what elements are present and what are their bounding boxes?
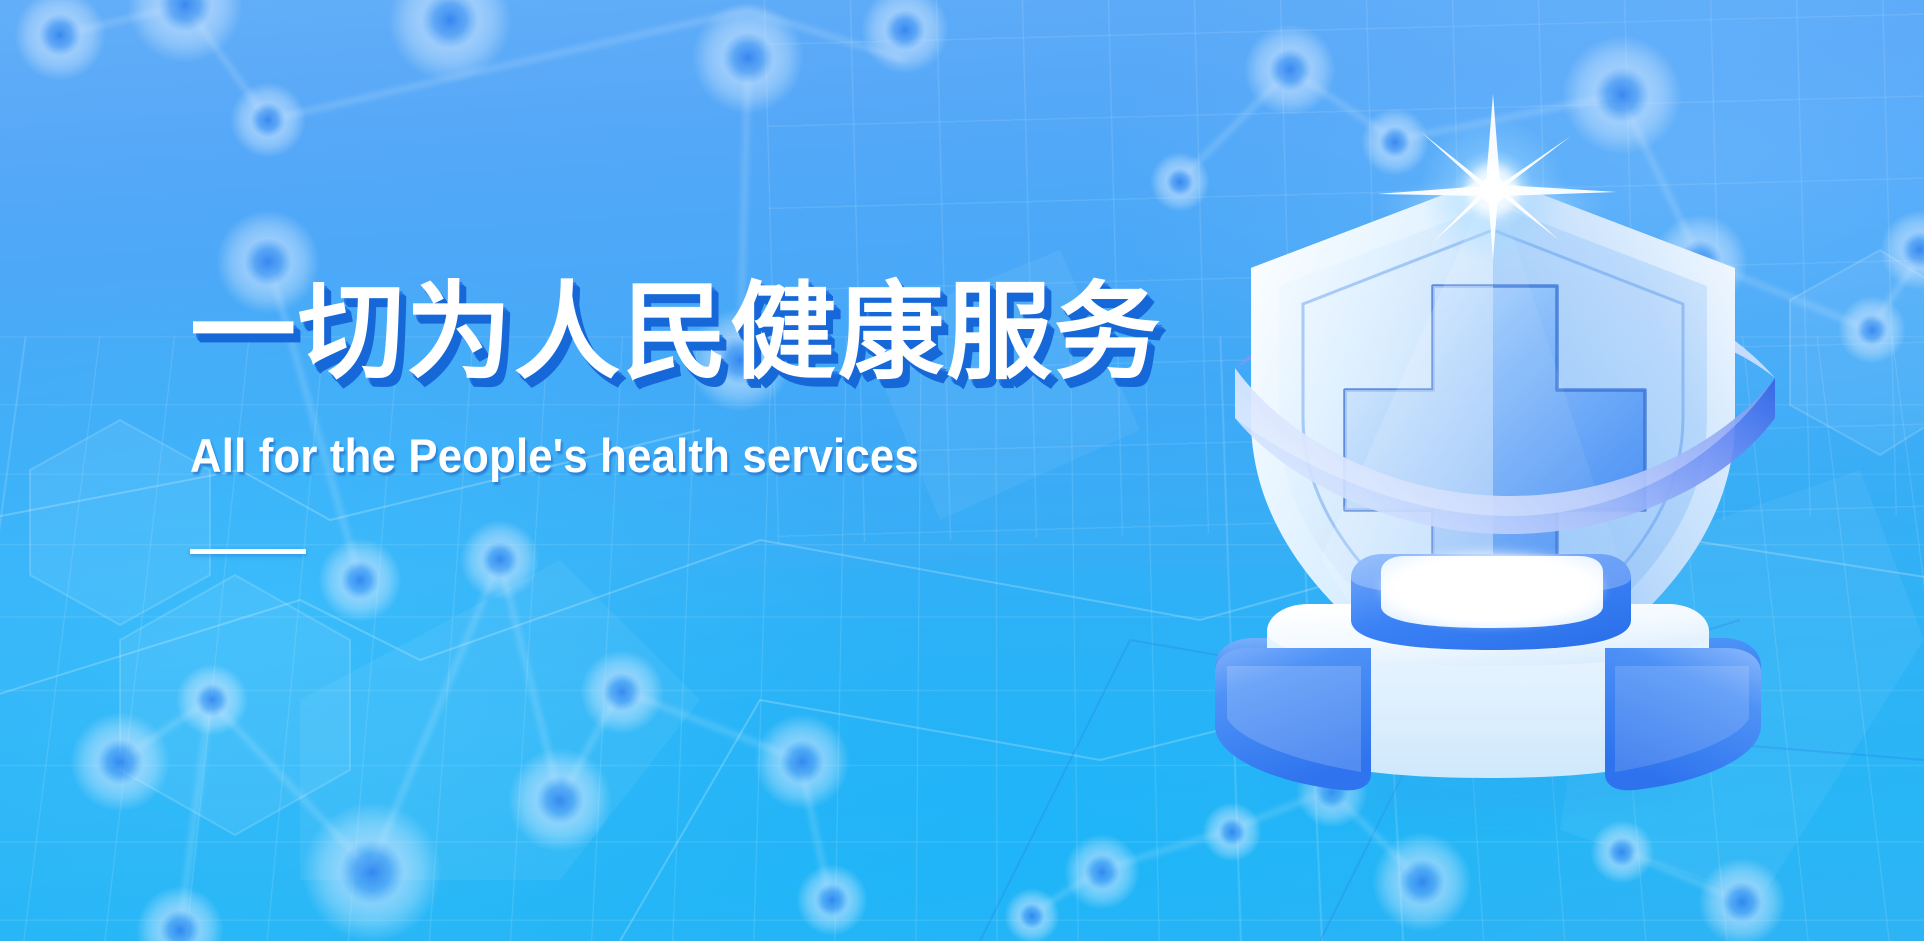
health-banner: 一切为人民健康服务 All for the People's health se… bbox=[0, 0, 1924, 941]
banner-copy: 一切为人民健康服务 All for the People's health se… bbox=[190, 276, 1140, 554]
page-title: 一切为人民健康服务 bbox=[190, 276, 1140, 390]
pedestal-base-icon bbox=[1215, 554, 1761, 812]
title-divider bbox=[190, 549, 306, 554]
shield-illustration bbox=[1175, 118, 1795, 818]
page-subtitle: All for the People's health services bbox=[190, 428, 1074, 483]
shield-artwork-icon bbox=[1175, 118, 1795, 818]
